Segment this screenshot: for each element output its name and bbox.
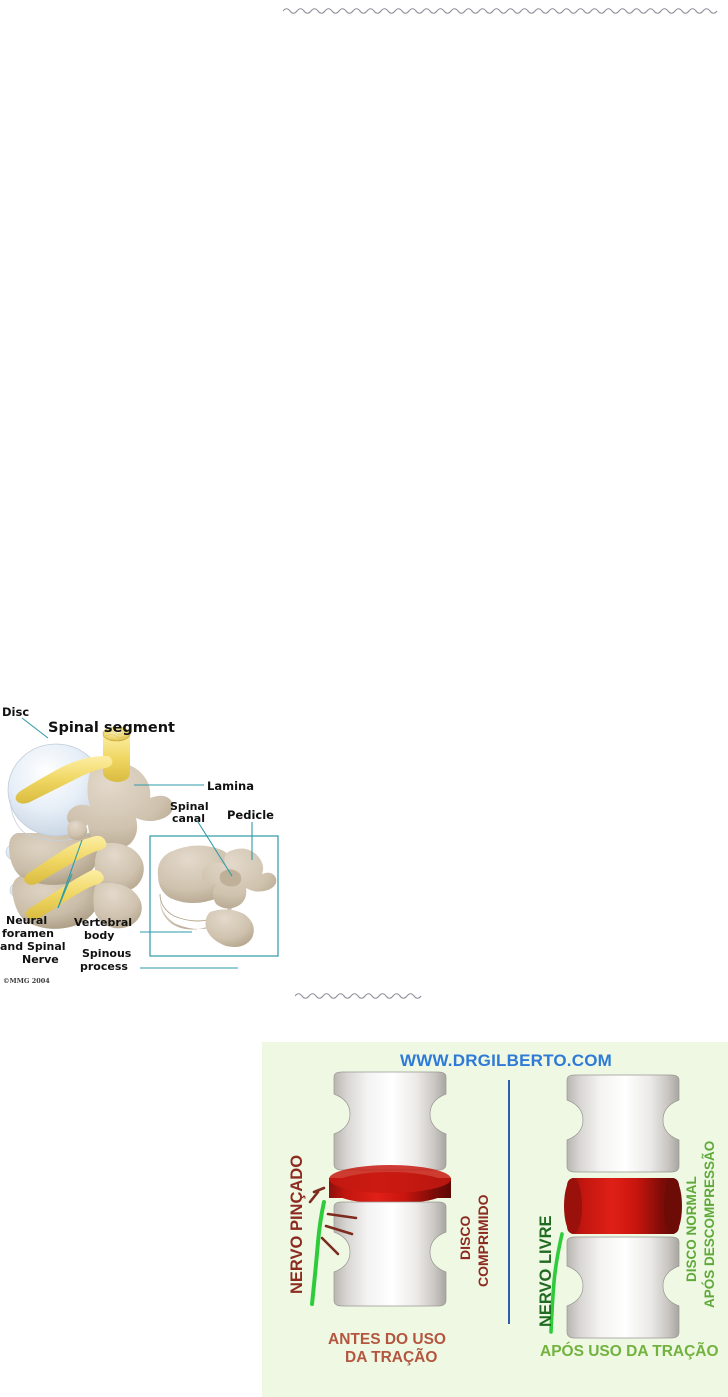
left-nerve-label: NERVO PINÇADO (288, 1155, 306, 1294)
label-neural-foramen-line2: foramen (2, 927, 54, 940)
label-neural-foramen-line1: Neural (6, 914, 47, 927)
label-neural-foramen-line4: Nerve (22, 953, 59, 966)
copyright-notice: ©MMG 2004 (3, 977, 50, 985)
label-spinous-process-line1: Spinous (82, 947, 132, 960)
label-neural-foramen-line3: and Spinal (0, 940, 66, 953)
website-url: WWW.DRGILBERTO.COM (400, 1051, 612, 1070)
left-caption-line2: DA TRAÇÃO (345, 1348, 437, 1366)
left-disc-label-line2: COMPRIMIDO (475, 1194, 491, 1287)
figure-title: Spinal segment (48, 720, 175, 736)
label-pedicle: Pedicle (227, 808, 274, 822)
right-disc-label-line1: DISCO NORMAL (684, 1176, 699, 1282)
squiggle-mid (295, 986, 421, 994)
label-vertebral-body-line2: body (84, 929, 114, 942)
label-lamina: Lamina (207, 779, 254, 793)
label-disc: Disc (2, 705, 29, 719)
right-caption: APÓS USO DA TRAÇÃO (540, 1342, 719, 1360)
label-spinal-canal-line2: canal (172, 812, 205, 825)
left-caption-line1: ANTES DO USO (328, 1331, 446, 1348)
label-spinous-process-line2: process (80, 960, 128, 973)
squiggle-top (283, 1, 720, 9)
right-disc-label-line2: APÓS DESCOMPRESSÃO (702, 1141, 717, 1308)
right-nerve-label: NERVO LIVRE (537, 1215, 555, 1327)
spinal-segment-figure: Spinal segment Disc Lamina Spinal canal … (0, 694, 292, 994)
label-vertebral-body-line1: Vertebral (74, 916, 132, 929)
traction-comparison-figure: WWW.DRGILBERTO.COM NERVO P (262, 1042, 728, 1397)
left-disc-label-line1: DISCO (457, 1216, 473, 1260)
